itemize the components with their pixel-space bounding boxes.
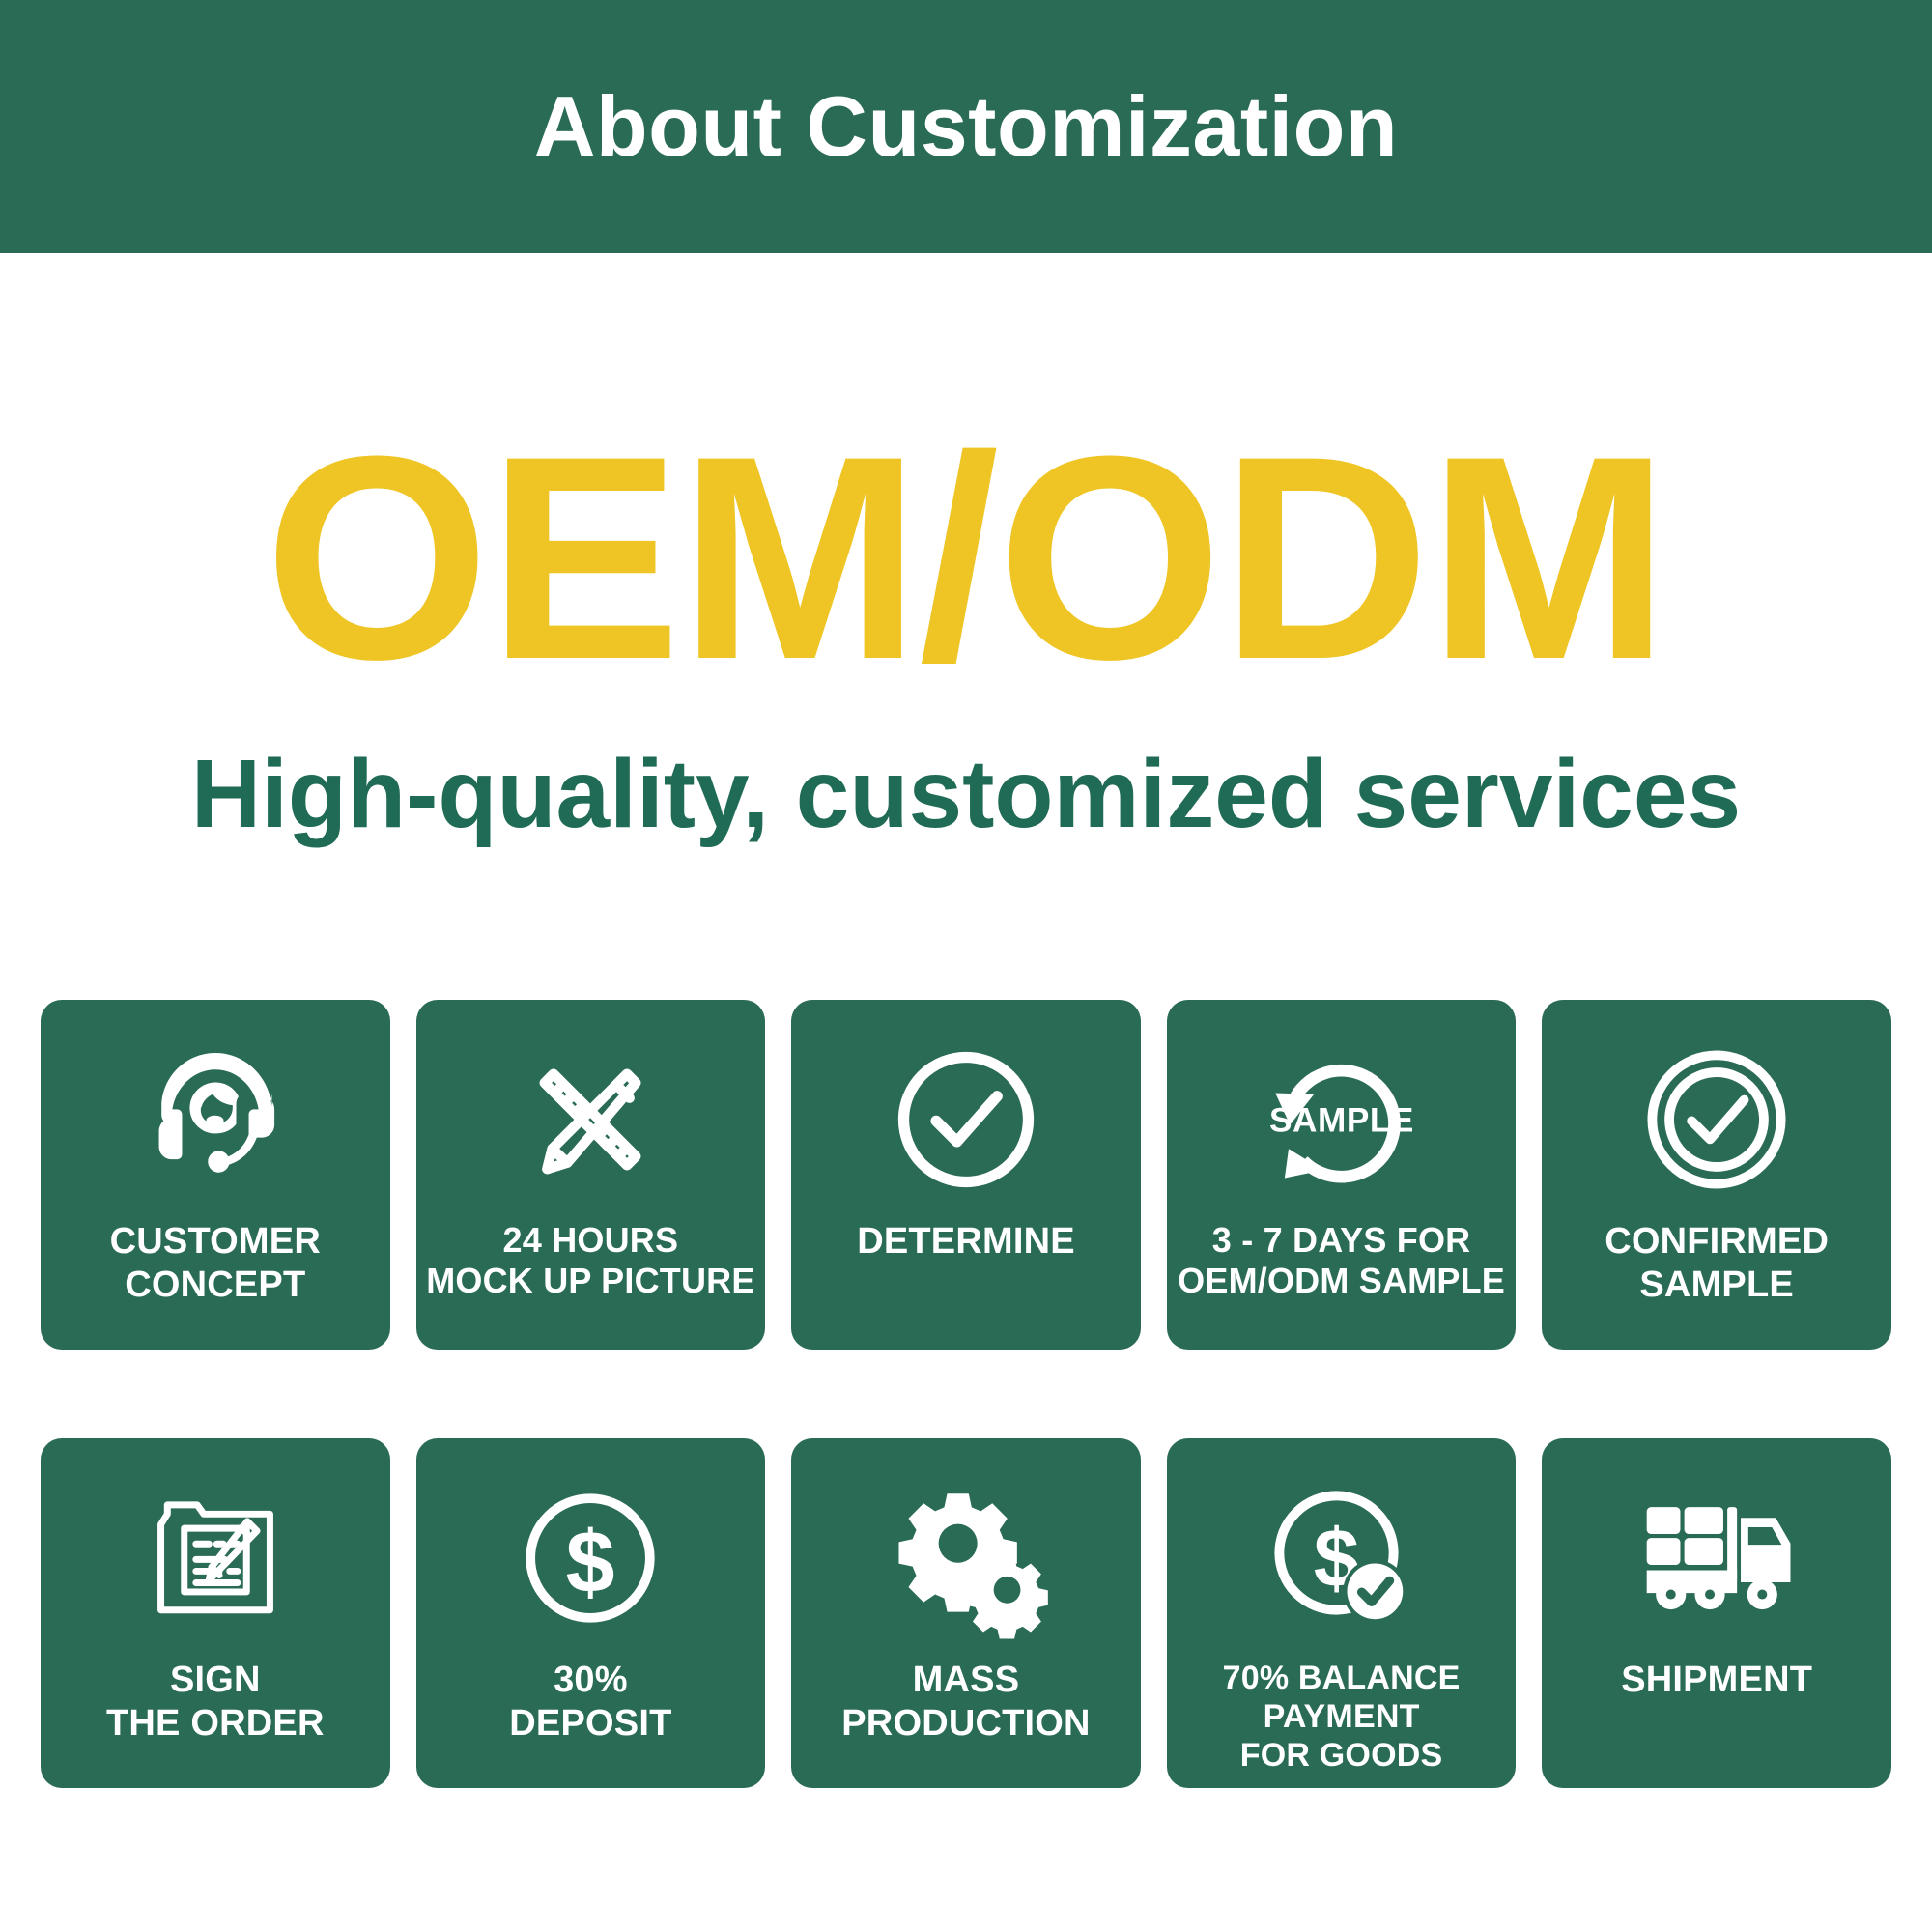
hero-subheadline: High-quality, customized services xyxy=(0,746,1932,842)
process-card-shipment[interactable]: SHIPMENT xyxy=(1542,1438,1891,1788)
dollar-circle-icon: $ xyxy=(416,1463,766,1653)
hero-headline: OEM/ODM xyxy=(0,412,1932,702)
process-card-label: 30% DEPOSIT xyxy=(416,1653,766,1788)
sample-icon-text: SAMPLE xyxy=(1269,1101,1414,1139)
process-card-label: SHIPMENT xyxy=(1542,1653,1891,1788)
delivery-truck-icon xyxy=(1542,1463,1891,1653)
process-card-label: CUSTOMER CONCEPT xyxy=(41,1214,390,1350)
pencil-ruler-icon xyxy=(416,1025,766,1214)
process-card-sample-days[interactable]: SAMPLE 3 - 7 DAYS FOR OEM/ODM SAMPLE xyxy=(1167,1000,1517,1350)
double-ring-check-icon xyxy=(1542,1025,1891,1214)
process-card-label: 24 HOURS MOCK UP PICTURE xyxy=(416,1214,766,1350)
headset-agent-icon xyxy=(41,1025,390,1214)
process-card-mock-up-picture[interactable]: 24 HOURS MOCK UP PICTURE xyxy=(416,1000,766,1350)
process-card-label: 3 - 7 DAYS FOR OEM/ODM SAMPLE xyxy=(1167,1214,1517,1350)
sign-document-pen-icon xyxy=(41,1463,390,1653)
page-header: About Customization xyxy=(0,0,1932,253)
process-card-label: MASS PRODUCTION xyxy=(791,1653,1141,1788)
process-grid: CUSTOMER CONCEPT xyxy=(41,1000,1891,1788)
process-card-balance-payment[interactable]: $ 70% BALANCE PAYMENT FOR GOODS xyxy=(1167,1438,1517,1788)
sample-cycle-icon: SAMPLE xyxy=(1167,1025,1517,1214)
page-title: About Customization xyxy=(534,84,1398,169)
dollar-circle-check-icon: $ xyxy=(1167,1463,1517,1653)
process-card-mass-production[interactable]: MASS PRODUCTION xyxy=(791,1438,1141,1788)
process-card-customer-concept[interactable]: CUSTOMER CONCEPT xyxy=(41,1000,390,1350)
process-card-sign-order[interactable]: SIGN THE ORDER xyxy=(41,1438,390,1788)
process-row-2: SIGN THE ORDER $ 30% DEPOSIT xyxy=(41,1438,1891,1788)
check-circle-icon xyxy=(791,1025,1141,1214)
process-card-deposit[interactable]: $ 30% DEPOSIT xyxy=(416,1438,766,1788)
process-row-1: CUSTOMER CONCEPT xyxy=(41,1000,1891,1350)
process-card-label: SIGN THE ORDER xyxy=(41,1653,390,1788)
svg-text:$: $ xyxy=(566,1513,615,1611)
hero-section: OEM/ODM High-quality, customized service… xyxy=(0,253,1932,1000)
process-card-determine[interactable]: DETERMINE xyxy=(791,1000,1141,1350)
gears-icon xyxy=(791,1463,1141,1653)
process-card-label: CONFIRMED SAMPLE xyxy=(1542,1214,1891,1350)
process-card-confirmed-sample[interactable]: CONFIRMED SAMPLE xyxy=(1542,1000,1891,1350)
process-card-label: 70% BALANCE PAYMENT FOR GOODS xyxy=(1167,1653,1517,1788)
customization-page: About Customization OEM/ODM High-quality… xyxy=(0,0,1932,1932)
process-card-label: DETERMINE xyxy=(791,1214,1141,1350)
